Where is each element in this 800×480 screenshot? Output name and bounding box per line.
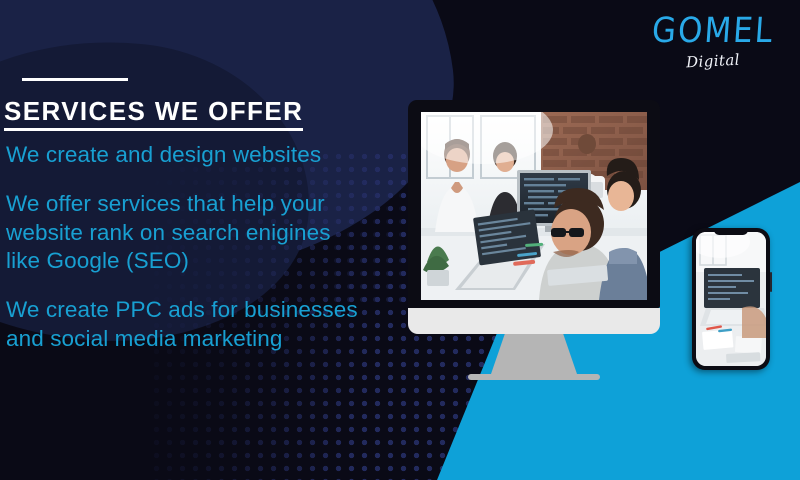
- smartphone-mockup: [692, 228, 770, 370]
- phone-screen: [696, 232, 766, 366]
- services-copy-block: SERVICES WE OFFER We create and design w…: [0, 78, 382, 354]
- heading-top-rule: [22, 78, 128, 81]
- service-item: We create PPC ads for businesses and soc…: [6, 296, 362, 354]
- page-title: SERVICES WE OFFER: [4, 97, 303, 131]
- monitor-chin: [408, 308, 660, 334]
- service-item: We offer services that help your website…: [6, 190, 362, 276]
- desk-workspace-photo: [696, 232, 766, 366]
- brand-logo: GOMEL Digital: [648, 16, 778, 69]
- service-item: We create and design websites: [6, 141, 362, 170]
- monitor-stand: [491, 334, 577, 374]
- monitor-bezel: [408, 100, 660, 308]
- services-list: We create and design websites We offer s…: [0, 141, 382, 354]
- phone-notch: [714, 228, 748, 235]
- promo-canvas: SERVICES WE OFFER We create and design w…: [0, 0, 800, 480]
- desktop-monitor-mockup: [408, 100, 660, 380]
- monitor-stand-foot: [468, 374, 600, 380]
- brand-name: GOMEL: [647, 14, 779, 49]
- office-team-photo: [421, 112, 647, 300]
- phone-side-button: [770, 272, 772, 292]
- monitor-screen: [421, 112, 647, 300]
